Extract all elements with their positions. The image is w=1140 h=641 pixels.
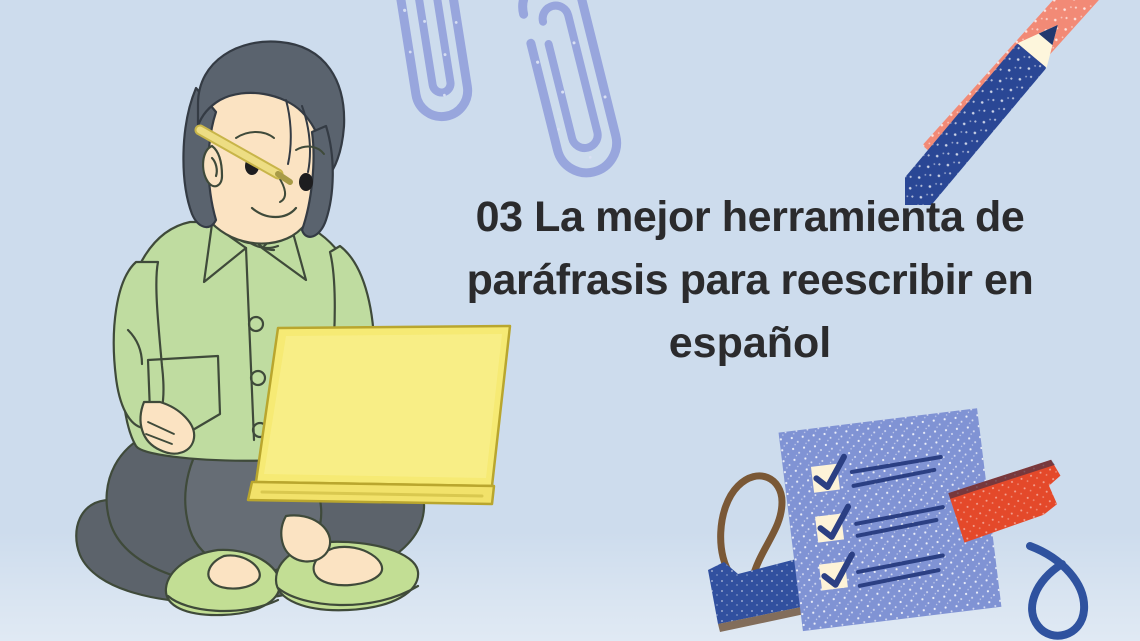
headline-line-2: paráfrasis para reescribir en <box>392 249 1108 312</box>
binder-clip-left-wire <box>721 476 782 580</box>
checklist-note-decoration <box>690 398 1140 641</box>
banner-canvas: 03 La mejor herramienta de paráfrasis pa… <box>0 0 1140 641</box>
headline-line-3: español <box>392 312 1108 375</box>
headline-line-1: 03 La mejor herramienta de <box>392 186 1108 249</box>
binder-clip-right-wire <box>1030 546 1084 636</box>
eye-right <box>299 173 313 191</box>
pencil-blue-icon <box>905 13 1072 205</box>
page-title: 03 La mejor herramienta de paráfrasis pa… <box>392 186 1108 375</box>
paperclip-icon-right <box>516 0 623 179</box>
pencils-decoration <box>905 0 1140 210</box>
